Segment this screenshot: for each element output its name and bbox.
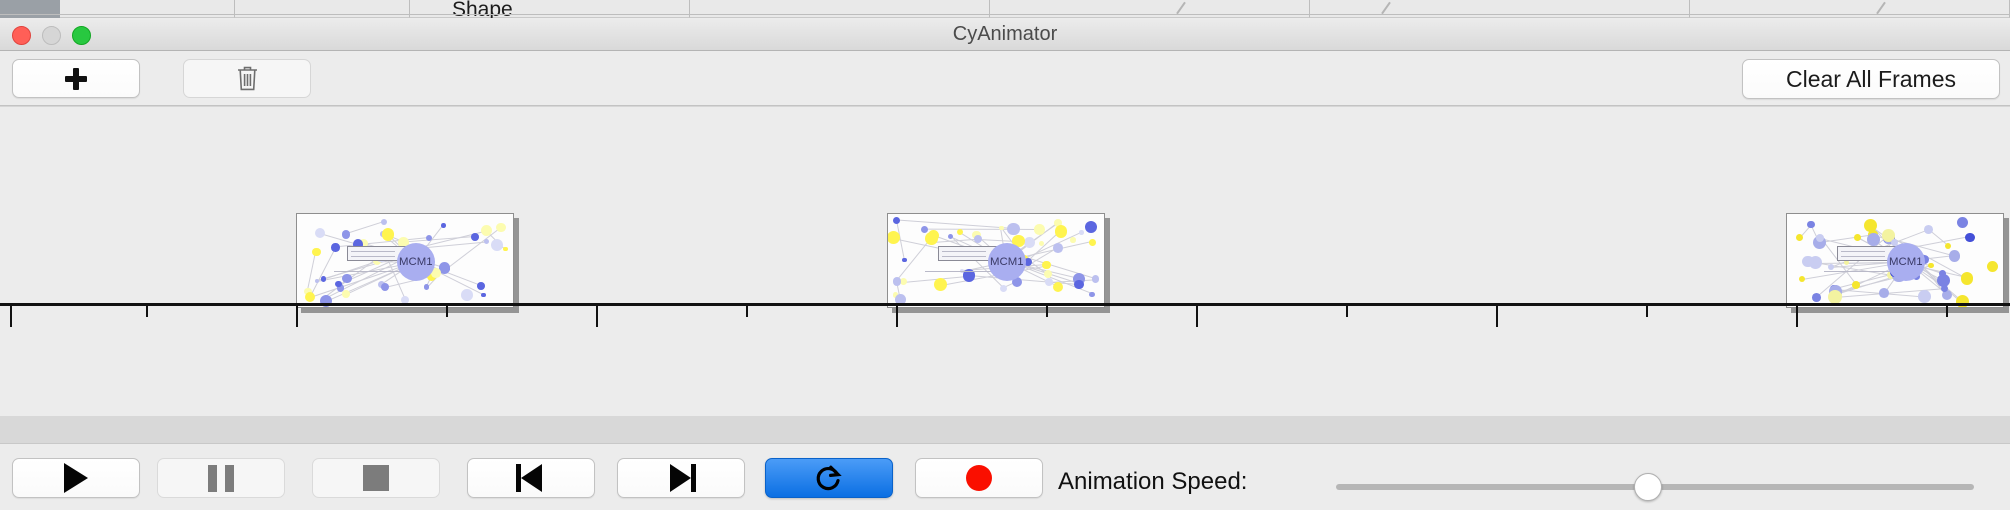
- network-node: [335, 281, 341, 287]
- skip-previous-icon: [516, 464, 546, 492]
- play-button[interactable]: [12, 458, 140, 498]
- network-edge: [897, 219, 1014, 229]
- network-node: [342, 274, 352, 284]
- network-node: [342, 290, 350, 298]
- network-node: [1024, 237, 1035, 248]
- tick-major: [596, 306, 598, 327]
- network-caption-line: [1824, 271, 1896, 272]
- network-hub-node: MCM1: [988, 243, 1026, 281]
- trash-icon: [236, 65, 259, 92]
- network-node: [1034, 224, 1045, 235]
- clear-all-frames-label: Clear All Frames: [1786, 66, 1956, 93]
- network-node: [491, 239, 503, 251]
- network-node: [893, 277, 902, 286]
- network-node: [1092, 275, 1100, 283]
- network-node: [315, 279, 319, 283]
- tick-minor: [1046, 306, 1048, 317]
- tick-major: [1796, 306, 1798, 327]
- network-node: [1867, 233, 1879, 245]
- network-node: [471, 233, 479, 241]
- network-graph-thumbnail: MCM1: [1787, 214, 2003, 307]
- network-node: [1055, 225, 1068, 238]
- tick-major: [296, 306, 298, 327]
- network-node: [484, 239, 489, 244]
- network-node: [1965, 233, 1975, 243]
- tooltip-text-line: [351, 251, 395, 252]
- network-caption-line: [925, 271, 997, 272]
- play-icon: [64, 463, 88, 493]
- network-node: [1949, 250, 1960, 261]
- network-node: [948, 234, 953, 239]
- tooltip-text-line: [1841, 256, 1885, 257]
- network-node: [1042, 261, 1051, 270]
- tooltip-text-line: [351, 256, 395, 257]
- network-node: [1000, 285, 1007, 292]
- network-node: [424, 284, 429, 289]
- network-node: [1796, 234, 1803, 241]
- network-node: [1089, 292, 1094, 297]
- network-node: [1070, 237, 1075, 242]
- tooltip-text-line: [1841, 251, 1885, 252]
- tick-minor: [146, 306, 148, 317]
- tick-minor: [1946, 306, 1948, 317]
- network-edge: [345, 221, 383, 234]
- tooltip-text-line: [942, 251, 986, 252]
- network-node: [1053, 243, 1063, 253]
- animation-speed-label: Animation Speed:: [1058, 468, 1247, 496]
- network-edge: [1834, 274, 1891, 289]
- tick-major: [1196, 306, 1198, 327]
- plus-icon: [65, 68, 87, 90]
- network-node: [441, 223, 446, 228]
- network-node: [1828, 264, 1834, 270]
- network-node: [481, 293, 485, 297]
- network-edge: [924, 228, 1039, 229]
- network-node: [496, 223, 505, 232]
- network-node: [305, 292, 315, 302]
- network-node: [1085, 221, 1097, 233]
- stop-button[interactable]: [312, 458, 440, 498]
- network-node: [312, 248, 320, 256]
- network-hub-node: MCM1: [397, 243, 435, 281]
- loop-button[interactable]: [765, 458, 893, 498]
- network-node: [382, 228, 395, 241]
- cyanimator-window: Shape CyAnimator: [0, 0, 2010, 510]
- record-icon: [966, 465, 992, 491]
- window-title: CyAnimator: [0, 18, 2010, 51]
- network-node: [461, 289, 473, 301]
- toolbar: Clear All Frames: [0, 51, 2010, 106]
- clear-all-frames-button[interactable]: Clear All Frames: [1742, 59, 2000, 99]
- network-node: [1879, 288, 1889, 298]
- network-node: [902, 258, 907, 263]
- network-hub-node: MCM1: [1887, 243, 1925, 281]
- network-node: [381, 283, 389, 291]
- network-node: [381, 219, 387, 225]
- stop-icon: [363, 465, 389, 491]
- loop-icon: [814, 463, 844, 493]
- timeline-axis: [0, 303, 2010, 306]
- network-node: [1828, 290, 1842, 304]
- network-node: [974, 235, 982, 243]
- title-bar: CyAnimator: [0, 18, 2010, 51]
- network-node: [1812, 293, 1821, 302]
- network-node: [503, 247, 507, 251]
- tick-major: [896, 306, 898, 327]
- network-node: [342, 230, 350, 238]
- tick-minor: [746, 306, 748, 317]
- tick-minor: [446, 306, 448, 317]
- network-node: [321, 276, 326, 281]
- network-node: [1089, 239, 1096, 246]
- network-node: [1807, 221, 1814, 228]
- animation-speed-slider[interactable]: [1336, 476, 1974, 498]
- network-node: [999, 226, 1004, 231]
- tick-minor: [1646, 306, 1648, 317]
- background-window-label: Shape: [452, 0, 513, 18]
- pause-button[interactable]: [157, 458, 285, 498]
- record-button[interactable]: [915, 458, 1043, 498]
- slider-thumb[interactable]: [1634, 473, 1662, 501]
- timeline-frame-thumbnail[interactable]: MCM1: [296, 213, 514, 308]
- network-node: [1961, 272, 1973, 284]
- network-node: [1799, 276, 1806, 283]
- network-node: [1852, 281, 1860, 289]
- network-node: [1928, 263, 1934, 269]
- network-node: [477, 282, 485, 290]
- network-node: [928, 230, 939, 241]
- network-node: [1987, 261, 1998, 272]
- pause-icon: [208, 465, 234, 492]
- network-node: [1956, 295, 1969, 308]
- network-caption-line: [334, 271, 406, 272]
- network-node: [887, 231, 900, 244]
- network-node: [1079, 230, 1084, 235]
- timeline-frame-thumbnail[interactable]: MCM1: [887, 213, 1105, 308]
- network-node: [1053, 282, 1063, 292]
- skip-next-icon: [666, 464, 696, 492]
- network-node: [315, 228, 325, 238]
- network-node: [893, 217, 900, 224]
- tick-major: [1496, 306, 1498, 327]
- network-node: [1957, 217, 1968, 228]
- delete-frame-button[interactable]: [183, 59, 311, 98]
- playback-controls: Animation Speed:: [0, 443, 2010, 510]
- timeline-frame-thumbnail[interactable]: MCM1: [1786, 213, 2004, 308]
- network-node: [921, 226, 928, 233]
- network-node: [1007, 223, 1019, 235]
- frame-track[interactable]: MCM1MCM1MCM1: [0, 107, 2010, 302]
- network-node: [1918, 290, 1931, 303]
- next-frame-button[interactable]: [617, 458, 745, 498]
- network-graph-thumbnail: MCM1: [297, 214, 513, 307]
- previous-frame-button[interactable]: [467, 458, 595, 498]
- add-frame-button[interactable]: [12, 59, 140, 98]
- timeline-panel[interactable]: MCM1MCM1MCM1 2131415161718 Seconds: [0, 106, 2010, 416]
- network-node: [934, 278, 947, 291]
- network-graph-thumbnail: MCM1: [888, 214, 1104, 307]
- network-node: [331, 243, 339, 251]
- network-node: [1802, 256, 1814, 268]
- tick-major: [10, 306, 12, 327]
- tick-minor: [1346, 306, 1348, 317]
- network-node: [1854, 234, 1861, 241]
- network-node: [1945, 243, 1951, 249]
- network-node: [1937, 274, 1950, 287]
- network-node: [957, 229, 963, 235]
- network-node: [1074, 280, 1084, 290]
- tooltip-text-line: [942, 256, 986, 257]
- network-node: [1864, 219, 1877, 232]
- background-window-strip: Shape: [0, 0, 2010, 18]
